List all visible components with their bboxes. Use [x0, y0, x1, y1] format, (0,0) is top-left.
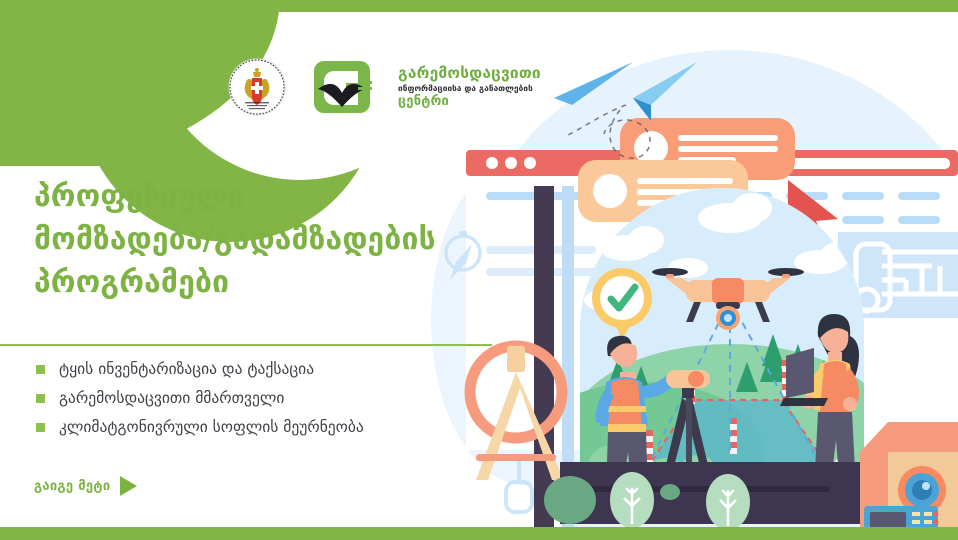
top-green-bar	[0, 0, 958, 12]
page-title: პროფესიული მომზადება/გადამზადების პროგრა…	[34, 176, 494, 305]
list-item: ტყის ინვენტარიზაცია და ტაქსაცია	[36, 360, 506, 380]
bottom-green-bar	[0, 527, 958, 540]
headline-block: პროფესიული მომზადება/გადამზადების პროგრა…	[34, 176, 494, 305]
bullet-square-icon	[36, 423, 45, 432]
program-list: ტყის ინვენტარიზაცია და ტაქსაცია გარემოსდ…	[36, 360, 506, 446]
logo-line-2: ინფორმაციისა და განათლების	[398, 84, 541, 92]
banner-canvas: გარემოსდაცვითი ინფორმაციისა და განათლები…	[0, 0, 958, 540]
camera-house-icon	[860, 422, 958, 540]
list-item: გარემოსდაცვითი მმართველი	[36, 389, 506, 409]
play-triangle-icon[interactable]	[120, 476, 137, 496]
learn-more-button[interactable]: გაიგე მეტი	[34, 476, 137, 496]
learn-more-label: გაიგე მეტი	[34, 479, 110, 494]
list-item-label: კლიმატგონივრული სოფლის მეურნეობა	[59, 418, 364, 438]
list-item-label: ტყის ინვენტარიზაცია და ტაქსაცია	[59, 360, 314, 380]
logo-lockup[interactable]: გარემოსდაცვითი ინფორმაციისა და განათლები…	[228, 58, 541, 116]
green-swoosh-tail	[0, 0, 140, 166]
list-item: კლიმატგონივრული სოფლის მეურნეობა	[36, 418, 506, 438]
section-divider	[0, 344, 492, 346]
bullet-square-icon	[36, 365, 45, 374]
logo-line-3: ცენტრი	[398, 95, 541, 108]
logo-text-block: გარემოსდაცვითი ინფორმაციისა და განათლები…	[398, 66, 541, 109]
logo-line-1: გარემოსდაცვითი	[398, 66, 541, 82]
bullet-square-icon	[36, 394, 45, 403]
geiec-logo-mark	[312, 59, 372, 115]
georgia-coat-of-arms-seal	[228, 58, 286, 116]
list-item-label: გარემოსდაცვითი მმართველი	[59, 389, 284, 409]
